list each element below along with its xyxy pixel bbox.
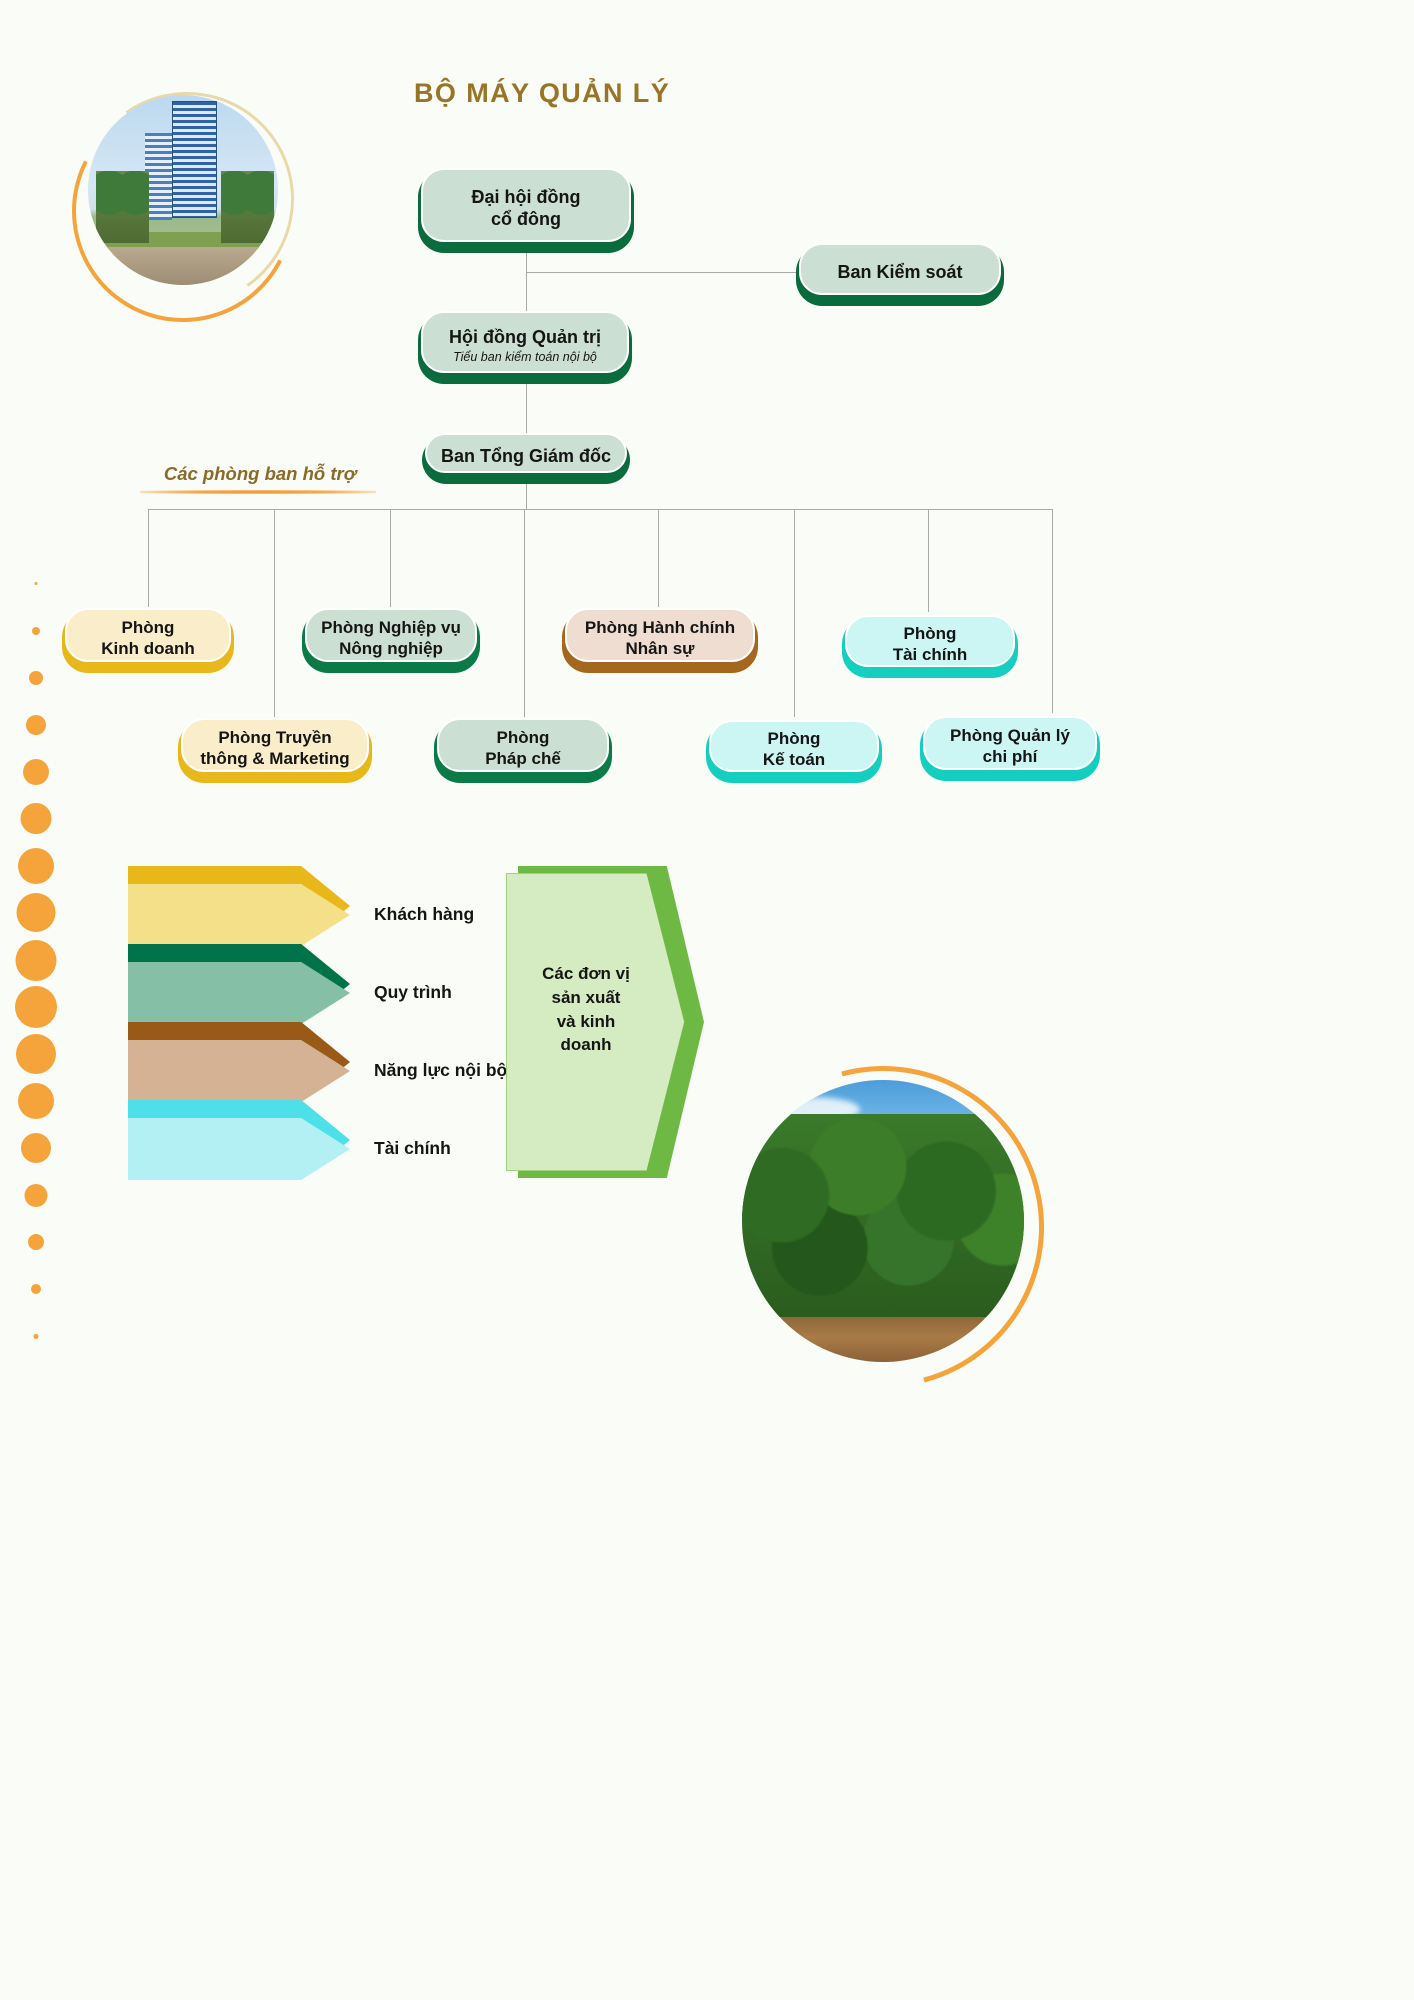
decorative-dot bbox=[28, 1234, 44, 1250]
department-label-line2: Kinh doanh bbox=[89, 639, 206, 660]
production-shape-label: Các đơn vị sản xuất và kinh doanh bbox=[524, 962, 648, 1057]
department-nghiep-vu-nong-nghiep[interactable]: Phòng Nghiệp vụ Nông nghiệp bbox=[302, 605, 480, 673]
department-quan-ly-chi-phi[interactable]: Phòng Quản lý chi phí bbox=[920, 713, 1100, 781]
decorative-dot bbox=[23, 759, 49, 785]
production-business-units-shape[interactable]: Các đơn vị sản xuất và kinh doanh bbox=[506, 866, 704, 1178]
node-label: Hội đồng Quản trị bbox=[437, 327, 613, 349]
connector-drop-tai-chinh bbox=[928, 509, 929, 612]
production-label-line3: và kinh bbox=[524, 1010, 648, 1034]
decorative-dot bbox=[15, 986, 57, 1028]
department-label-line2: Tài chính bbox=[881, 645, 980, 666]
department-tai-chinh[interactable]: Phòng Tài chính bbox=[842, 612, 1018, 678]
decorative-dot bbox=[32, 627, 40, 635]
page-title: BỘ MÁY QUẢN LÝ bbox=[414, 78, 934, 109]
node-board-of-directors[interactable]: Hội đồng Quản trị Tiểu ban kiểm toán nội… bbox=[418, 308, 632, 384]
decorative-dot bbox=[16, 940, 57, 981]
legend-arrow-1[interactable] bbox=[128, 866, 350, 946]
department-label-line2: Nhân sự bbox=[614, 639, 707, 660]
connector-department-bus bbox=[148, 509, 1053, 510]
connector-drop-phap-che bbox=[524, 509, 525, 717]
connector-drop-nong-nghiep bbox=[390, 509, 391, 607]
connector-to-supervisory bbox=[526, 272, 802, 273]
decorative-dot bbox=[26, 715, 46, 735]
legend-arrow-3[interactable] bbox=[128, 1022, 350, 1102]
node-executive-board[interactable]: Ban Tổng Giám đốc bbox=[422, 430, 630, 484]
connector-board-to-ceo bbox=[526, 382, 527, 434]
connector-ceo-to-bus bbox=[526, 480, 527, 510]
production-label-line1: Các đơn vị bbox=[524, 962, 648, 986]
legend-arrow-2[interactable] bbox=[128, 944, 350, 1024]
department-label-line1: Phòng Truyền bbox=[206, 728, 343, 749]
decorative-dot bbox=[18, 848, 54, 884]
department-label-line1: Phòng Quản lý bbox=[938, 726, 1082, 747]
legend-arrow-4[interactable] bbox=[128, 1100, 350, 1180]
decorative-dot bbox=[16, 1034, 56, 1074]
department-truyen-thong-marketing[interactable]: Phòng Truyền thông & Marketing bbox=[178, 715, 372, 783]
department-label-line1: Phòng Hành chính bbox=[573, 618, 747, 639]
decorative-dot bbox=[21, 803, 52, 834]
connector-drop-ke-toan bbox=[794, 509, 795, 717]
department-hanh-chinh-nhan-su[interactable]: Phòng Hành chính Nhân sự bbox=[562, 605, 758, 673]
department-label-line2: chi phí bbox=[971, 747, 1050, 768]
legend-label-1: Khách hàng bbox=[374, 904, 474, 925]
decorative-dot bbox=[34, 1334, 39, 1339]
node-shareholders-assembly[interactable]: Đại hội đồng cổ đông bbox=[418, 165, 634, 253]
durian-orchard-photo bbox=[742, 1080, 1024, 1362]
department-label-line2: Kế toán bbox=[751, 750, 837, 771]
node-label-2: cổ đông bbox=[479, 209, 573, 231]
department-label-line1: Phòng bbox=[892, 624, 969, 645]
decorative-dot bbox=[18, 1083, 54, 1119]
department-label-line1: Phòng bbox=[485, 728, 562, 749]
decorative-dot bbox=[29, 671, 43, 685]
node-label: Ban Tổng Giám đốc bbox=[429, 446, 623, 468]
support-caption-underline bbox=[140, 490, 376, 494]
node-label: Ban Kiểm soát bbox=[825, 262, 974, 284]
production-label-line4: doanh bbox=[524, 1033, 648, 1057]
department-phap-che[interactable]: Phòng Pháp chế bbox=[434, 715, 612, 783]
decorative-dot-rail bbox=[0, 560, 72, 1360]
decorative-dot bbox=[25, 1184, 48, 1207]
legend-label-4: Tài chính bbox=[374, 1138, 451, 1159]
connector-drop-hanh-chinh bbox=[658, 509, 659, 607]
department-label-line1: Phòng bbox=[110, 618, 187, 639]
production-label-line2: sản xuất bbox=[524, 986, 648, 1010]
decorative-dot bbox=[17, 893, 56, 932]
department-ke-toan[interactable]: Phòng Kế toán bbox=[706, 717, 882, 783]
connector-drop-quan-ly-chi-phi bbox=[1052, 509, 1053, 713]
department-label-line2: thông & Marketing bbox=[188, 749, 361, 770]
legend-label-2: Quy trình bbox=[374, 982, 452, 1003]
department-label-line2: Pháp chế bbox=[473, 749, 573, 770]
connector-drop-truyen-thong bbox=[274, 509, 275, 717]
department-label-line2: Nông nghiệp bbox=[327, 639, 455, 660]
node-subtitle: Tiểu ban kiểm toán nội bộ bbox=[453, 350, 597, 365]
department-label-line1: Phòng Nghiệp vụ bbox=[309, 618, 473, 639]
decorative-dot bbox=[21, 1133, 51, 1163]
node-supervisory-board[interactable]: Ban Kiểm soát bbox=[796, 240, 1004, 306]
connector-drop-kinh-doanh bbox=[148, 509, 149, 607]
support-departments-caption: Các phòng ban hỗ trợ bbox=[140, 463, 380, 485]
decorative-dot bbox=[31, 1284, 41, 1294]
department-kinh-doanh[interactable]: Phòng Kinh doanh bbox=[62, 605, 234, 673]
decorative-dot bbox=[35, 582, 38, 585]
department-label-line1: Phòng bbox=[756, 729, 833, 750]
building-headquarters-photo bbox=[88, 95, 278, 285]
node-label: Đại hội đồng bbox=[460, 187, 593, 209]
legend-label-3: Năng lực nội bộ bbox=[374, 1060, 507, 1081]
